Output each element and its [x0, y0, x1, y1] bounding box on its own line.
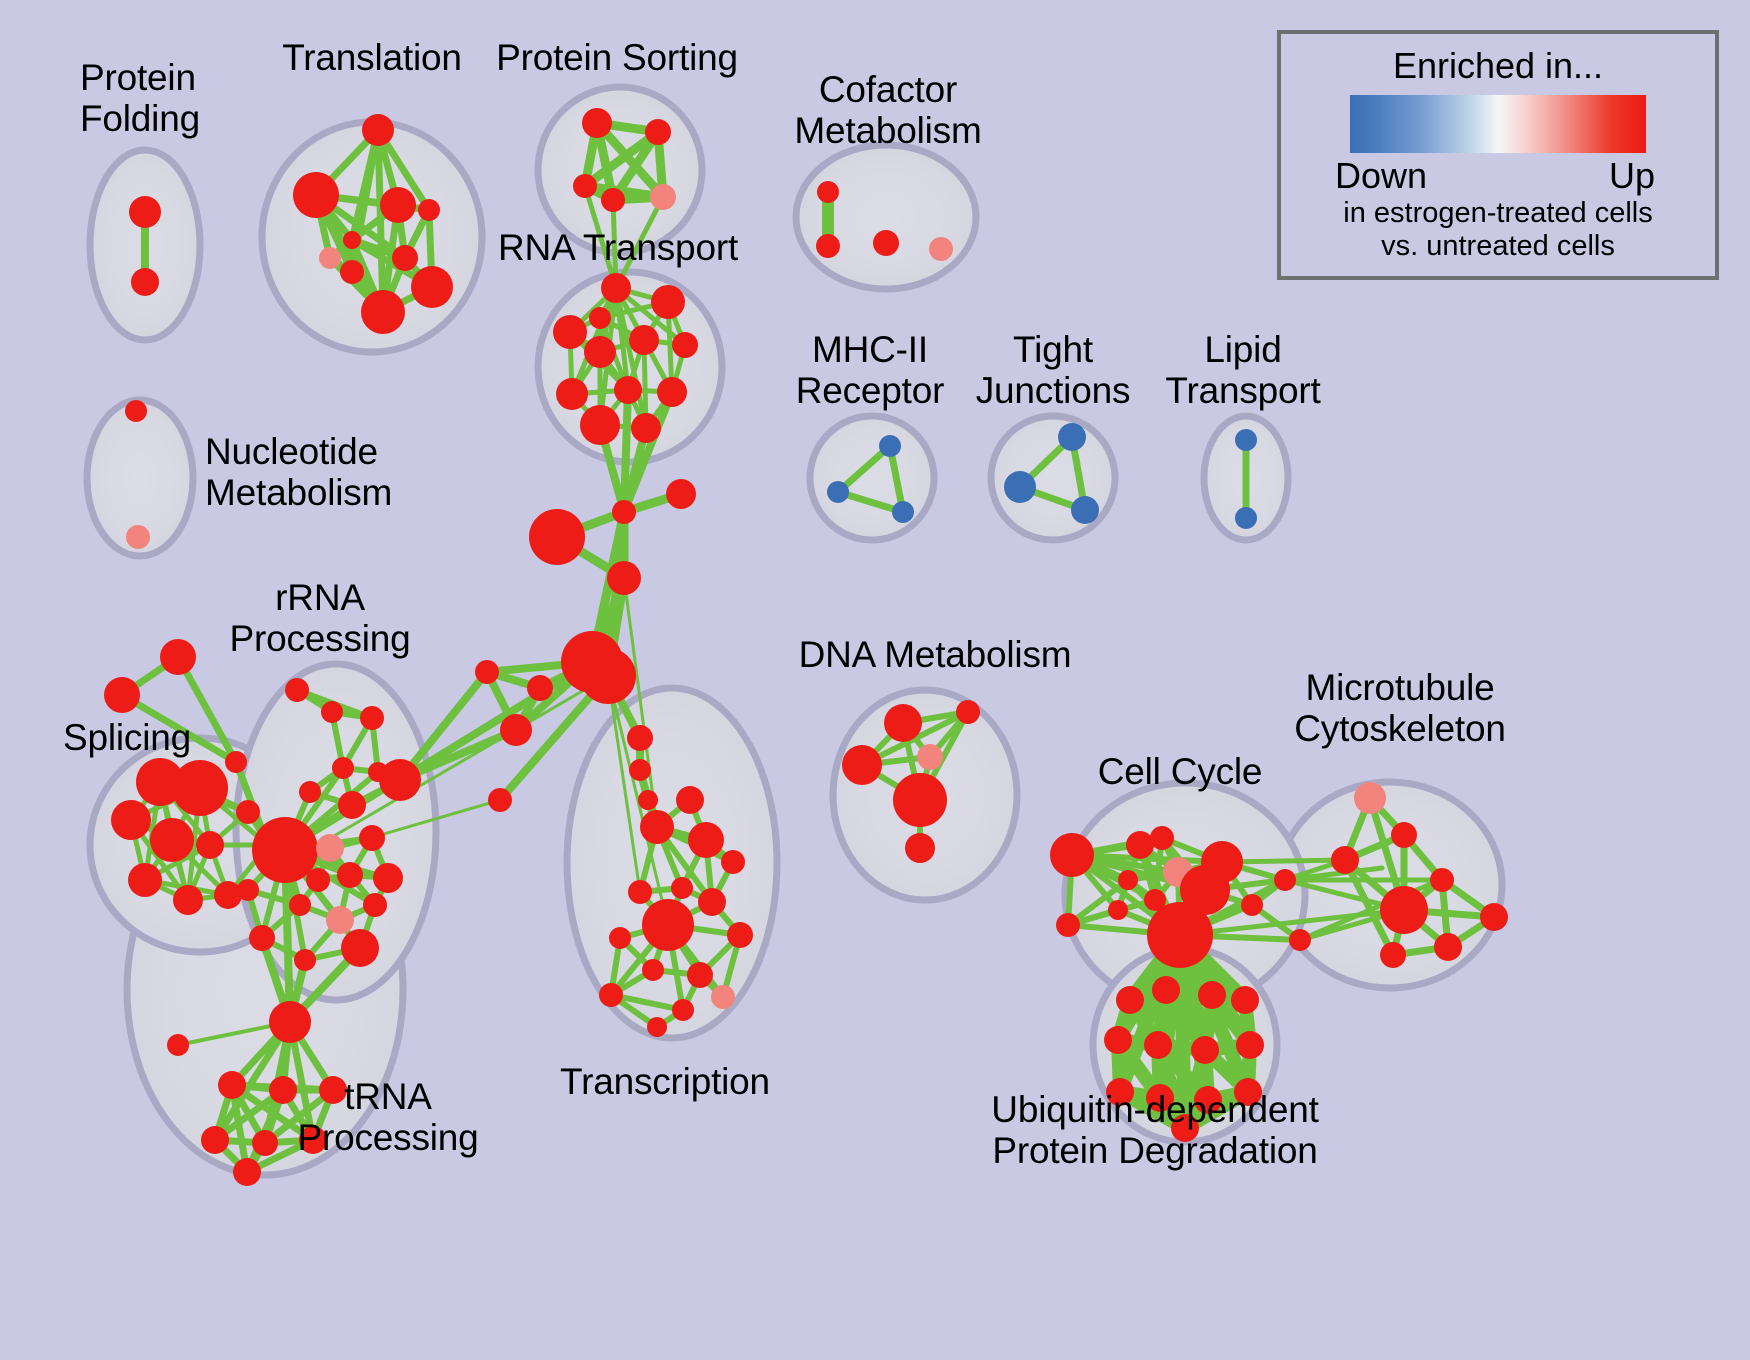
- node: [589, 307, 611, 329]
- legend-low-label: Down: [1335, 155, 1427, 197]
- cluster-label-ubiquitin: Ubiquitin-dependent Protein Degradation: [991, 1090, 1318, 1171]
- cluster-label-rrna-processing: rRNA Processing: [229, 578, 410, 659]
- node: [556, 378, 588, 410]
- node: [131, 268, 159, 296]
- node: [672, 332, 698, 358]
- cluster-label-cell-cycle: Cell Cycle: [1098, 752, 1263, 793]
- node: [340, 260, 364, 284]
- node: [642, 959, 664, 981]
- cluster-label-transcription: Transcription: [560, 1062, 770, 1103]
- node: [956, 700, 980, 724]
- node: [475, 660, 499, 684]
- node: [1430, 868, 1454, 892]
- node: [380, 187, 416, 223]
- node: [842, 745, 882, 785]
- node: [150, 818, 194, 862]
- node: [816, 234, 840, 258]
- node: [1147, 902, 1213, 968]
- legend-panel: Enriched in... Down Up in estrogen-treat…: [1277, 30, 1719, 280]
- node: [196, 831, 224, 859]
- node: [650, 184, 676, 210]
- node: [321, 701, 343, 723]
- node: [218, 1071, 246, 1099]
- node: [289, 894, 311, 916]
- node: [363, 893, 387, 917]
- node: [1235, 507, 1257, 529]
- node: [647, 1017, 667, 1037]
- node: [929, 237, 953, 261]
- node: [173, 885, 203, 915]
- node: [601, 273, 631, 303]
- node: [361, 290, 405, 334]
- node: [1235, 429, 1257, 451]
- node: [236, 800, 260, 824]
- node: [628, 880, 652, 904]
- node: [326, 906, 354, 934]
- node: [269, 1076, 297, 1104]
- node: [873, 230, 899, 256]
- node: [817, 181, 839, 203]
- node: [1231, 986, 1259, 1014]
- node: [392, 245, 418, 271]
- node: [172, 760, 228, 816]
- cluster-label-tight-junctions: Tight Junctions: [976, 330, 1131, 411]
- cluster-label-protein-folding: Protein Folding: [80, 58, 200, 139]
- node: [529, 509, 585, 565]
- node: [337, 862, 363, 888]
- node: [1201, 841, 1243, 883]
- node: [201, 1126, 229, 1154]
- cluster-label-mhc-ii-receptor: MHC-II Receptor: [796, 330, 945, 411]
- node: [1152, 976, 1180, 1004]
- node: [1004, 471, 1036, 503]
- node: [1126, 831, 1154, 859]
- node: [1331, 846, 1359, 874]
- node: [500, 714, 532, 746]
- node: [905, 833, 935, 863]
- node: [1058, 423, 1086, 451]
- node: [645, 119, 671, 145]
- node: [666, 479, 696, 509]
- node: [553, 315, 587, 349]
- node: [657, 377, 687, 407]
- node: [727, 922, 753, 948]
- node: [1150, 826, 1174, 850]
- node: [1108, 900, 1128, 920]
- node: [1434, 933, 1462, 961]
- node: [612, 500, 636, 524]
- node: [711, 985, 735, 1009]
- node: [125, 400, 147, 422]
- node: [373, 863, 403, 893]
- node: [580, 405, 620, 445]
- node: [580, 648, 636, 704]
- node: [698, 888, 726, 916]
- node: [893, 773, 947, 827]
- node: [676, 786, 704, 814]
- node: [892, 501, 914, 523]
- node: [884, 704, 922, 742]
- node: [1380, 886, 1428, 934]
- node: [332, 757, 354, 779]
- legend-color-gradient-bar: [1350, 95, 1646, 153]
- node: [488, 788, 512, 812]
- cluster-label-rna-transport: RNA Transport: [498, 228, 738, 269]
- node: [319, 247, 341, 269]
- node: [233, 1158, 261, 1186]
- node: [601, 188, 625, 212]
- node: [249, 925, 275, 951]
- node: [1071, 496, 1099, 524]
- node: [343, 231, 361, 249]
- node: [418, 199, 440, 221]
- node: [167, 1034, 189, 1056]
- node: [688, 822, 724, 858]
- node: [1050, 833, 1094, 877]
- node: [1144, 1031, 1172, 1059]
- node: [631, 413, 661, 443]
- cluster-label-lipid-transport: Lipid Transport: [1165, 330, 1320, 411]
- node: [1116, 986, 1144, 1014]
- node: [252, 817, 318, 883]
- node: [1480, 903, 1508, 931]
- node: [614, 376, 642, 404]
- node: [379, 759, 421, 801]
- node: [338, 791, 366, 819]
- node: [609, 927, 631, 949]
- node: [1056, 913, 1080, 937]
- node: [607, 561, 641, 595]
- node: [341, 929, 379, 967]
- node: [111, 800, 151, 840]
- node: [627, 725, 653, 751]
- node: [237, 879, 259, 901]
- node: [316, 834, 344, 862]
- node: [129, 196, 161, 228]
- node: [1354, 782, 1386, 814]
- node: [827, 481, 849, 503]
- legend-title: Enriched in...: [1281, 45, 1715, 87]
- cluster-label-splicing: Splicing: [63, 718, 191, 759]
- node: [214, 881, 242, 909]
- cluster-label-protein-sorting: Protein Sorting: [496, 38, 738, 79]
- node: [1241, 894, 1263, 916]
- node: [252, 1130, 278, 1156]
- node: [225, 751, 247, 773]
- node: [359, 825, 385, 851]
- node: [642, 899, 694, 951]
- node: [638, 790, 658, 810]
- node: [411, 266, 453, 308]
- cluster-label-trna-processing: tRNA Processing: [297, 1077, 478, 1158]
- node: [269, 1001, 311, 1043]
- cluster-label-nucleotide-metabolism: Nucleotide Metabolism: [205, 432, 392, 513]
- node: [1289, 929, 1311, 951]
- node: [360, 706, 384, 730]
- node: [294, 949, 316, 971]
- node: [629, 759, 651, 781]
- node: [293, 172, 339, 218]
- node: [1104, 1026, 1132, 1054]
- node: [1236, 1031, 1264, 1059]
- node: [687, 962, 713, 988]
- node: [721, 850, 745, 874]
- node: [126, 525, 150, 549]
- node: [1198, 981, 1226, 1009]
- legend-high-label: Up: [1609, 155, 1655, 197]
- node: [160, 639, 196, 675]
- node: [362, 114, 394, 146]
- node: [306, 868, 330, 892]
- cluster-label-translation: Translation: [282, 38, 461, 79]
- node: [629, 325, 659, 355]
- cluster-label-microtubule: Microtubule Cytoskeleton: [1294, 668, 1506, 749]
- node: [104, 677, 140, 713]
- node: [285, 678, 309, 702]
- node: [651, 285, 685, 319]
- node: [671, 877, 693, 899]
- node: [584, 336, 616, 368]
- node: [1380, 942, 1406, 968]
- node: [1118, 870, 1138, 890]
- node: [527, 675, 553, 701]
- node: [1274, 869, 1296, 891]
- node: [1191, 1036, 1219, 1064]
- enrichment-map-figure: Protein Folding Translation Protein Sort…: [0, 0, 1750, 1360]
- cluster-label-dna-metabolism: DNA Metabolism: [799, 635, 1072, 676]
- node: [599, 983, 623, 1007]
- node: [299, 781, 321, 803]
- node: [573, 174, 597, 198]
- cluster-label-cofactor-metabolism: Cofactor Metabolism: [794, 70, 981, 151]
- node: [640, 810, 674, 844]
- node: [128, 863, 162, 897]
- legend-endpoint-labels: Down Up: [1333, 155, 1663, 199]
- node: [879, 435, 901, 457]
- hull-mhc-ii-receptor: [810, 416, 934, 540]
- node: [582, 108, 612, 138]
- node: [1391, 822, 1417, 848]
- node: [917, 744, 943, 770]
- node: [672, 999, 694, 1021]
- legend-caption: in estrogen-treated cells vs. untreated …: [1281, 197, 1715, 263]
